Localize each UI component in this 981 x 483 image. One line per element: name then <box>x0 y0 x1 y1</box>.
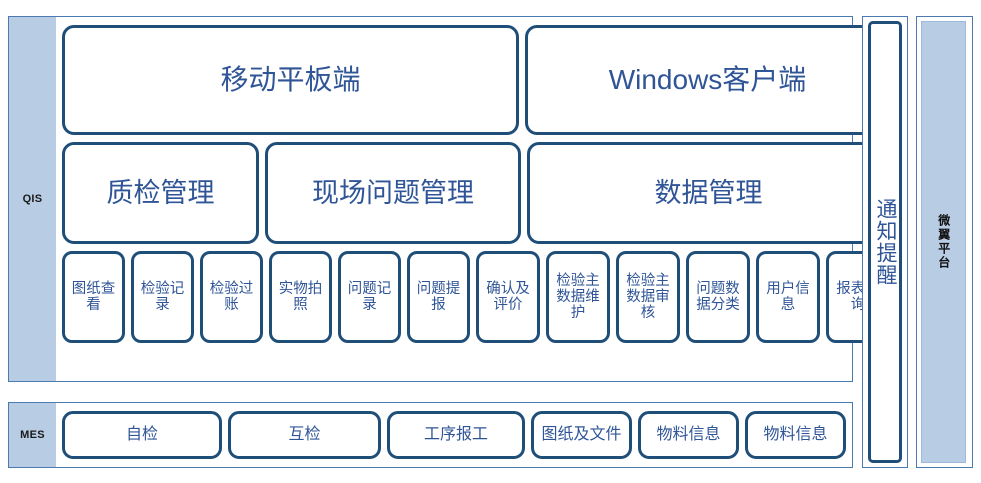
notification-box[interactable]: 通知提醒 <box>868 21 902 463</box>
module-box-onsite-issue[interactable]: 现场问题管理 <box>265 142 521 244</box>
platform-panel: 微翼平台 <box>921 21 966 463</box>
feature-box-inspection-posting[interactable]: 检验过账 <box>200 251 263 343</box>
notification-column: 通知提醒 <box>862 16 908 468</box>
module-box-quality-inspection[interactable]: 质检管理 <box>62 142 259 244</box>
module-box-data-management[interactable]: 数据管理 <box>527 142 890 244</box>
client-box-windows[interactable]: Windows客户端 <box>525 25 890 135</box>
architecture-diagram: QIS 移动平板端 Windows客户端 质检管理 现场问题管理 数据管理 图纸… <box>0 0 981 483</box>
feature-box-issue-record[interactable]: 问题记录 <box>338 251 401 343</box>
feature-box-user-info[interactable]: 用户信息 <box>756 251 820 343</box>
mes-box-material-info-2[interactable]: 物料信息 <box>745 411 846 459</box>
feature-box-confirm-evaluate[interactable]: 确认及评价 <box>476 251 540 343</box>
client-tier-row: 移动平板端 Windows客户端 <box>62 25 890 135</box>
client-box-mobile-tablet[interactable]: 移动平板端 <box>62 25 519 135</box>
module-tier-row: 质检管理 现场问题管理 数据管理 <box>62 142 890 244</box>
feature-box-issue-data-category[interactable]: 问题数据分类 <box>686 251 750 343</box>
feature-box-master-data-audit[interactable]: 检验主数据审核 <box>616 251 680 343</box>
mes-box-drawings-documents[interactable]: 图纸及文件 <box>531 411 632 459</box>
mes-box-material-info-1[interactable]: 物料信息 <box>638 411 739 459</box>
feature-box-master-data-maintain[interactable]: 检验主数据维护 <box>546 251 610 343</box>
mes-items-row: 自检 互检 工序报工 图纸及文件 物料信息 物料信息 <box>62 411 846 459</box>
qis-block-label: QIS <box>9 17 56 381</box>
feature-tier-row: 图纸查看 检验记录 检验过账 实物拍照 问题记录 问题提报 确认及评价 检验主数… <box>62 251 890 343</box>
mes-box-process-reporting[interactable]: 工序报工 <box>387 411 525 459</box>
feature-box-inspection-record[interactable]: 检验记录 <box>131 251 194 343</box>
mes-block: MES 自检 互检 工序报工 图纸及文件 物料信息 物料信息 <box>8 402 853 468</box>
mes-block-label: MES <box>9 403 56 467</box>
notification-label: 通知提醒 <box>874 198 896 286</box>
platform-label: 微翼平台 <box>937 214 950 270</box>
mes-box-mutual-inspection[interactable]: 互检 <box>228 411 381 459</box>
platform-column: 微翼平台 <box>916 16 973 468</box>
feature-box-issue-report[interactable]: 问题提报 <box>407 251 470 343</box>
feature-box-physical-photo[interactable]: 实物拍照 <box>269 251 332 343</box>
systems-column: QIS 移动平板端 Windows客户端 质检管理 现场问题管理 数据管理 图纸… <box>8 16 853 468</box>
mes-block-body: 自检 互检 工序报工 图纸及文件 物料信息 物料信息 <box>56 403 852 467</box>
mes-box-self-inspection[interactable]: 自检 <box>62 411 222 459</box>
qis-block-body: 移动平板端 Windows客户端 质检管理 现场问题管理 数据管理 图纸查看 检… <box>56 17 896 381</box>
qis-block: QIS 移动平板端 Windows客户端 质检管理 现场问题管理 数据管理 图纸… <box>8 16 853 382</box>
feature-box-drawing-view[interactable]: 图纸查看 <box>62 251 125 343</box>
